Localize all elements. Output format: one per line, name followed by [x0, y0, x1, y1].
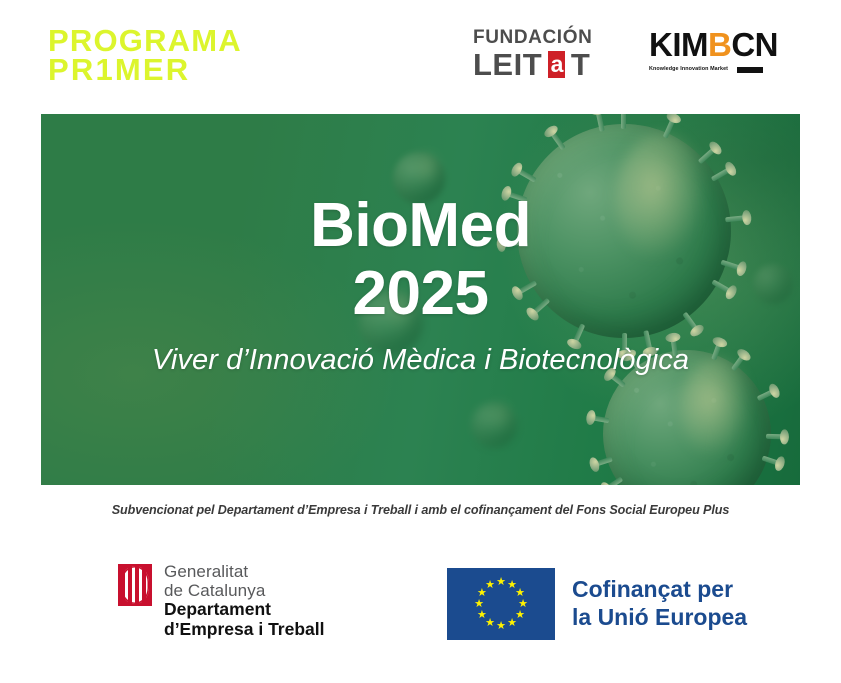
kim-bcn-accent-letter: B — [708, 26, 731, 63]
kim-bcn-bar-mark — [737, 67, 763, 73]
generalitat-catalunya-logo: Generalitat de Catalunya Departament d’E… — [118, 562, 324, 639]
generalitat-line-1: Generalitat — [164, 562, 324, 581]
virus-spike-head — [767, 383, 782, 400]
banner-title-line-1: BioMed — [310, 191, 531, 260]
fundacion-leitat-logo: FUNDACIÓN LEIT a T — [473, 28, 592, 80]
banner-title: BioMed 2025 — [41, 192, 800, 328]
generalitat-line-4: d’Empresa i Treball — [164, 620, 324, 640]
banner-title-line-2: 2025 — [41, 260, 800, 328]
kim-bcn-tagline: Knowledge Innovation Market — [649, 66, 728, 72]
shield-stripes — [121, 566, 149, 604]
virus-highlight — [417, 154, 440, 186]
eu-star-12: ★ — [485, 580, 495, 590]
banner-text-block: BioMed 2025 Viver d’Innovació Mèdica i B… — [41, 192, 800, 377]
footer-logo-bar: Generalitat de Catalunya Departament d’E… — [0, 548, 841, 668]
leitat-wordmark-part-2: T — [571, 47, 590, 82]
banner-subtitle: Viver d’Innovació Mèdica i Biotecnològic… — [41, 344, 800, 377]
funding-caption: Subvencionat pel Departament d’Empresa i… — [0, 503, 841, 517]
biomed-hero-banner: BioMed 2025 Viver d’Innovació Mèdica i B… — [41, 114, 800, 485]
kim-bcn-part-1: KIM — [649, 26, 708, 63]
kim-bcn-part-2: CN — [731, 26, 778, 63]
eu-text-block: Cofinançat per la Unió Europea — [572, 576, 747, 631]
kim-bcn-wordmark: KIMBCN — [649, 28, 778, 61]
virus-spike-head — [588, 456, 601, 473]
virus-spike-head — [585, 409, 596, 425]
leitat-boxed-letter: a — [548, 51, 566, 78]
leitat-fundacion-word: FUNDACIÓN — [473, 28, 592, 47]
virus-spike-head — [723, 161, 738, 178]
virus-spike-head — [773, 456, 786, 473]
eu-star-9: ★ — [477, 610, 487, 620]
kim-bcn-logo: KIMBCN Knowledge Innovation Market — [649, 28, 778, 78]
generalitat-line-2: de Catalunya — [164, 581, 324, 600]
virus-particle-small-bottom — [471, 402, 517, 448]
eu-star-3: ★ — [515, 588, 525, 598]
eu-line-1: Cofinançat per — [572, 576, 747, 604]
virus-spike-stem — [622, 114, 627, 129]
leitat-wordmark-part-1: LEIT — [473, 47, 542, 82]
eu-star-7: ★ — [496, 621, 506, 631]
eu-star-1: ★ — [496, 577, 506, 587]
header-logo-bar: PROGRAMA PR1MER FUNDACIÓN LEIT a T KIMBC… — [0, 0, 841, 110]
european-union-cofunding-logo: ★★★★★★★★★★★★ Cofinançat per la Unió Euro… — [447, 568, 747, 640]
eu-flag-icon: ★★★★★★★★★★★★ — [447, 568, 555, 640]
generalitat-line-3: Departament — [164, 600, 324, 620]
programa-primer-line-2: PR1MER — [48, 55, 242, 84]
eu-star-4: ★ — [518, 599, 528, 609]
programa-primer-line-1: PROGRAMA — [48, 26, 242, 55]
eu-star-6: ★ — [507, 618, 517, 628]
generalitat-text-block: Generalitat de Catalunya Departament d’E… — [164, 562, 324, 639]
eu-star-10: ★ — [474, 599, 484, 609]
leitat-wordmark: LEIT a T — [473, 49, 592, 80]
virus-spike-head — [780, 430, 790, 445]
programa-primer-logo: PROGRAMA PR1MER — [48, 26, 242, 85]
eu-line-2: la Unió Europea — [572, 604, 747, 632]
catalan-coat-of-arms-icon — [118, 564, 152, 606]
kim-bcn-tagline-row: Knowledge Innovation Market — [649, 62, 778, 78]
